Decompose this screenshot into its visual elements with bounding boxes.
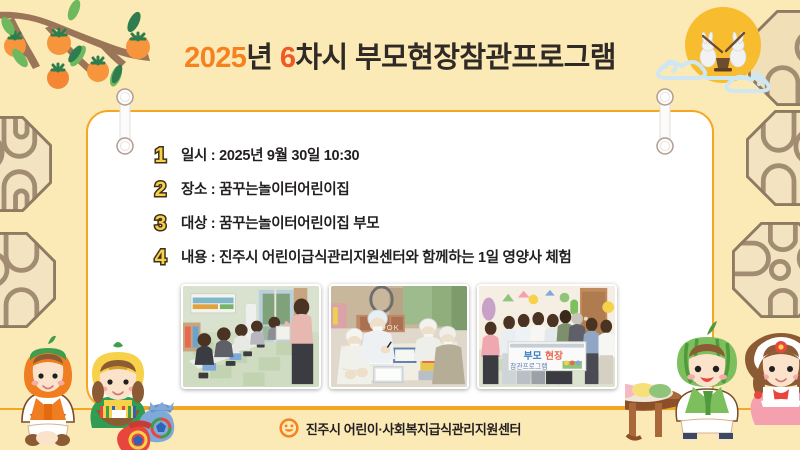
pin-clip-icon <box>114 88 136 156</box>
info-list: 1 1 일시 : 2025년 9월 30일 10:30 2 2 장소 : 꿈꾸는… <box>150 138 690 274</box>
pin-clip-icon <box>654 88 676 156</box>
info-row-3: 3 3 대상 : 꿈꾸는놀이터어린이집 부모 <box>150 206 690 238</box>
footer: 진주시 어린이·사회복지급식관리지원센터 <box>0 418 800 438</box>
photo-kitchen-hygiene-training: OOK <box>329 284 469 389</box>
svg-text:1: 1 <box>155 144 167 167</box>
info-row-4: 4 4 내용 : 진주시 어린이급식관리지원센터와 함께하는 1일 영양사 체험 <box>150 240 690 272</box>
info-text-4: 내용 : 진주시 어린이급식관리지원센터와 함께하는 1일 영양사 체험 <box>181 246 571 267</box>
info-row-2: 2 2 장소 : 꿈꾸는놀이터어린이집 <box>150 172 690 204</box>
svg-text:부모: 부모 <box>524 350 542 362</box>
info-row-1: 1 1 일시 : 2025년 9월 30일 10:30 <box>150 138 690 170</box>
footer-organization-name: 진주시 어린이·사회복지급식관리지원센터 <box>306 419 521 438</box>
info-text-2: 장소 : 꿈꾸는놀이터어린이집 <box>181 178 349 199</box>
page-title: 2025년 6차시 부모현장참관프로그램 <box>0 34 800 76</box>
traditional-octagon-pattern-icon <box>746 110 800 206</box>
title-year-suffix: 년 <box>246 42 272 74</box>
photo-orientation-session <box>181 284 321 389</box>
svg-text:2: 2 <box>155 178 167 201</box>
smiley-face-icon <box>279 418 299 438</box>
photo-gallery: OOK <box>181 284 617 389</box>
number-badge-2-icon: 2 2 <box>150 175 171 201</box>
svg-text:3: 3 <box>155 212 167 235</box>
info-text-1: 일시 : 2025년 9월 30일 10:30 <box>181 144 359 165</box>
number-badge-4-icon: 4 4 <box>150 243 171 269</box>
info-text-3: 대상 : 꿈꾸는놀이터어린이집 부모 <box>181 212 379 233</box>
number-badge-1-icon: 1 1 <box>150 141 171 167</box>
title-session-number: 6 <box>280 42 296 74</box>
title-year: 2025 <box>184 42 246 74</box>
title-session-suffix: 차시 부모현장참관프로그램 <box>295 42 615 74</box>
photo-group-banner: 부모 현장 참관프로그램 <box>477 284 617 389</box>
svg-text:4: 4 <box>155 246 167 269</box>
traditional-octagon-pattern-icon <box>0 116 52 212</box>
poster-canvas: 2025년 6차시 부모현장참관프로그램 1 1 일시 : 2025년 9월 3… <box>0 0 800 450</box>
svg-text:참관프로그램: 참관프로그램 <box>510 362 547 371</box>
svg-text:현장: 현장 <box>545 350 563 362</box>
number-badge-3-icon: 3 3 <box>150 209 171 235</box>
